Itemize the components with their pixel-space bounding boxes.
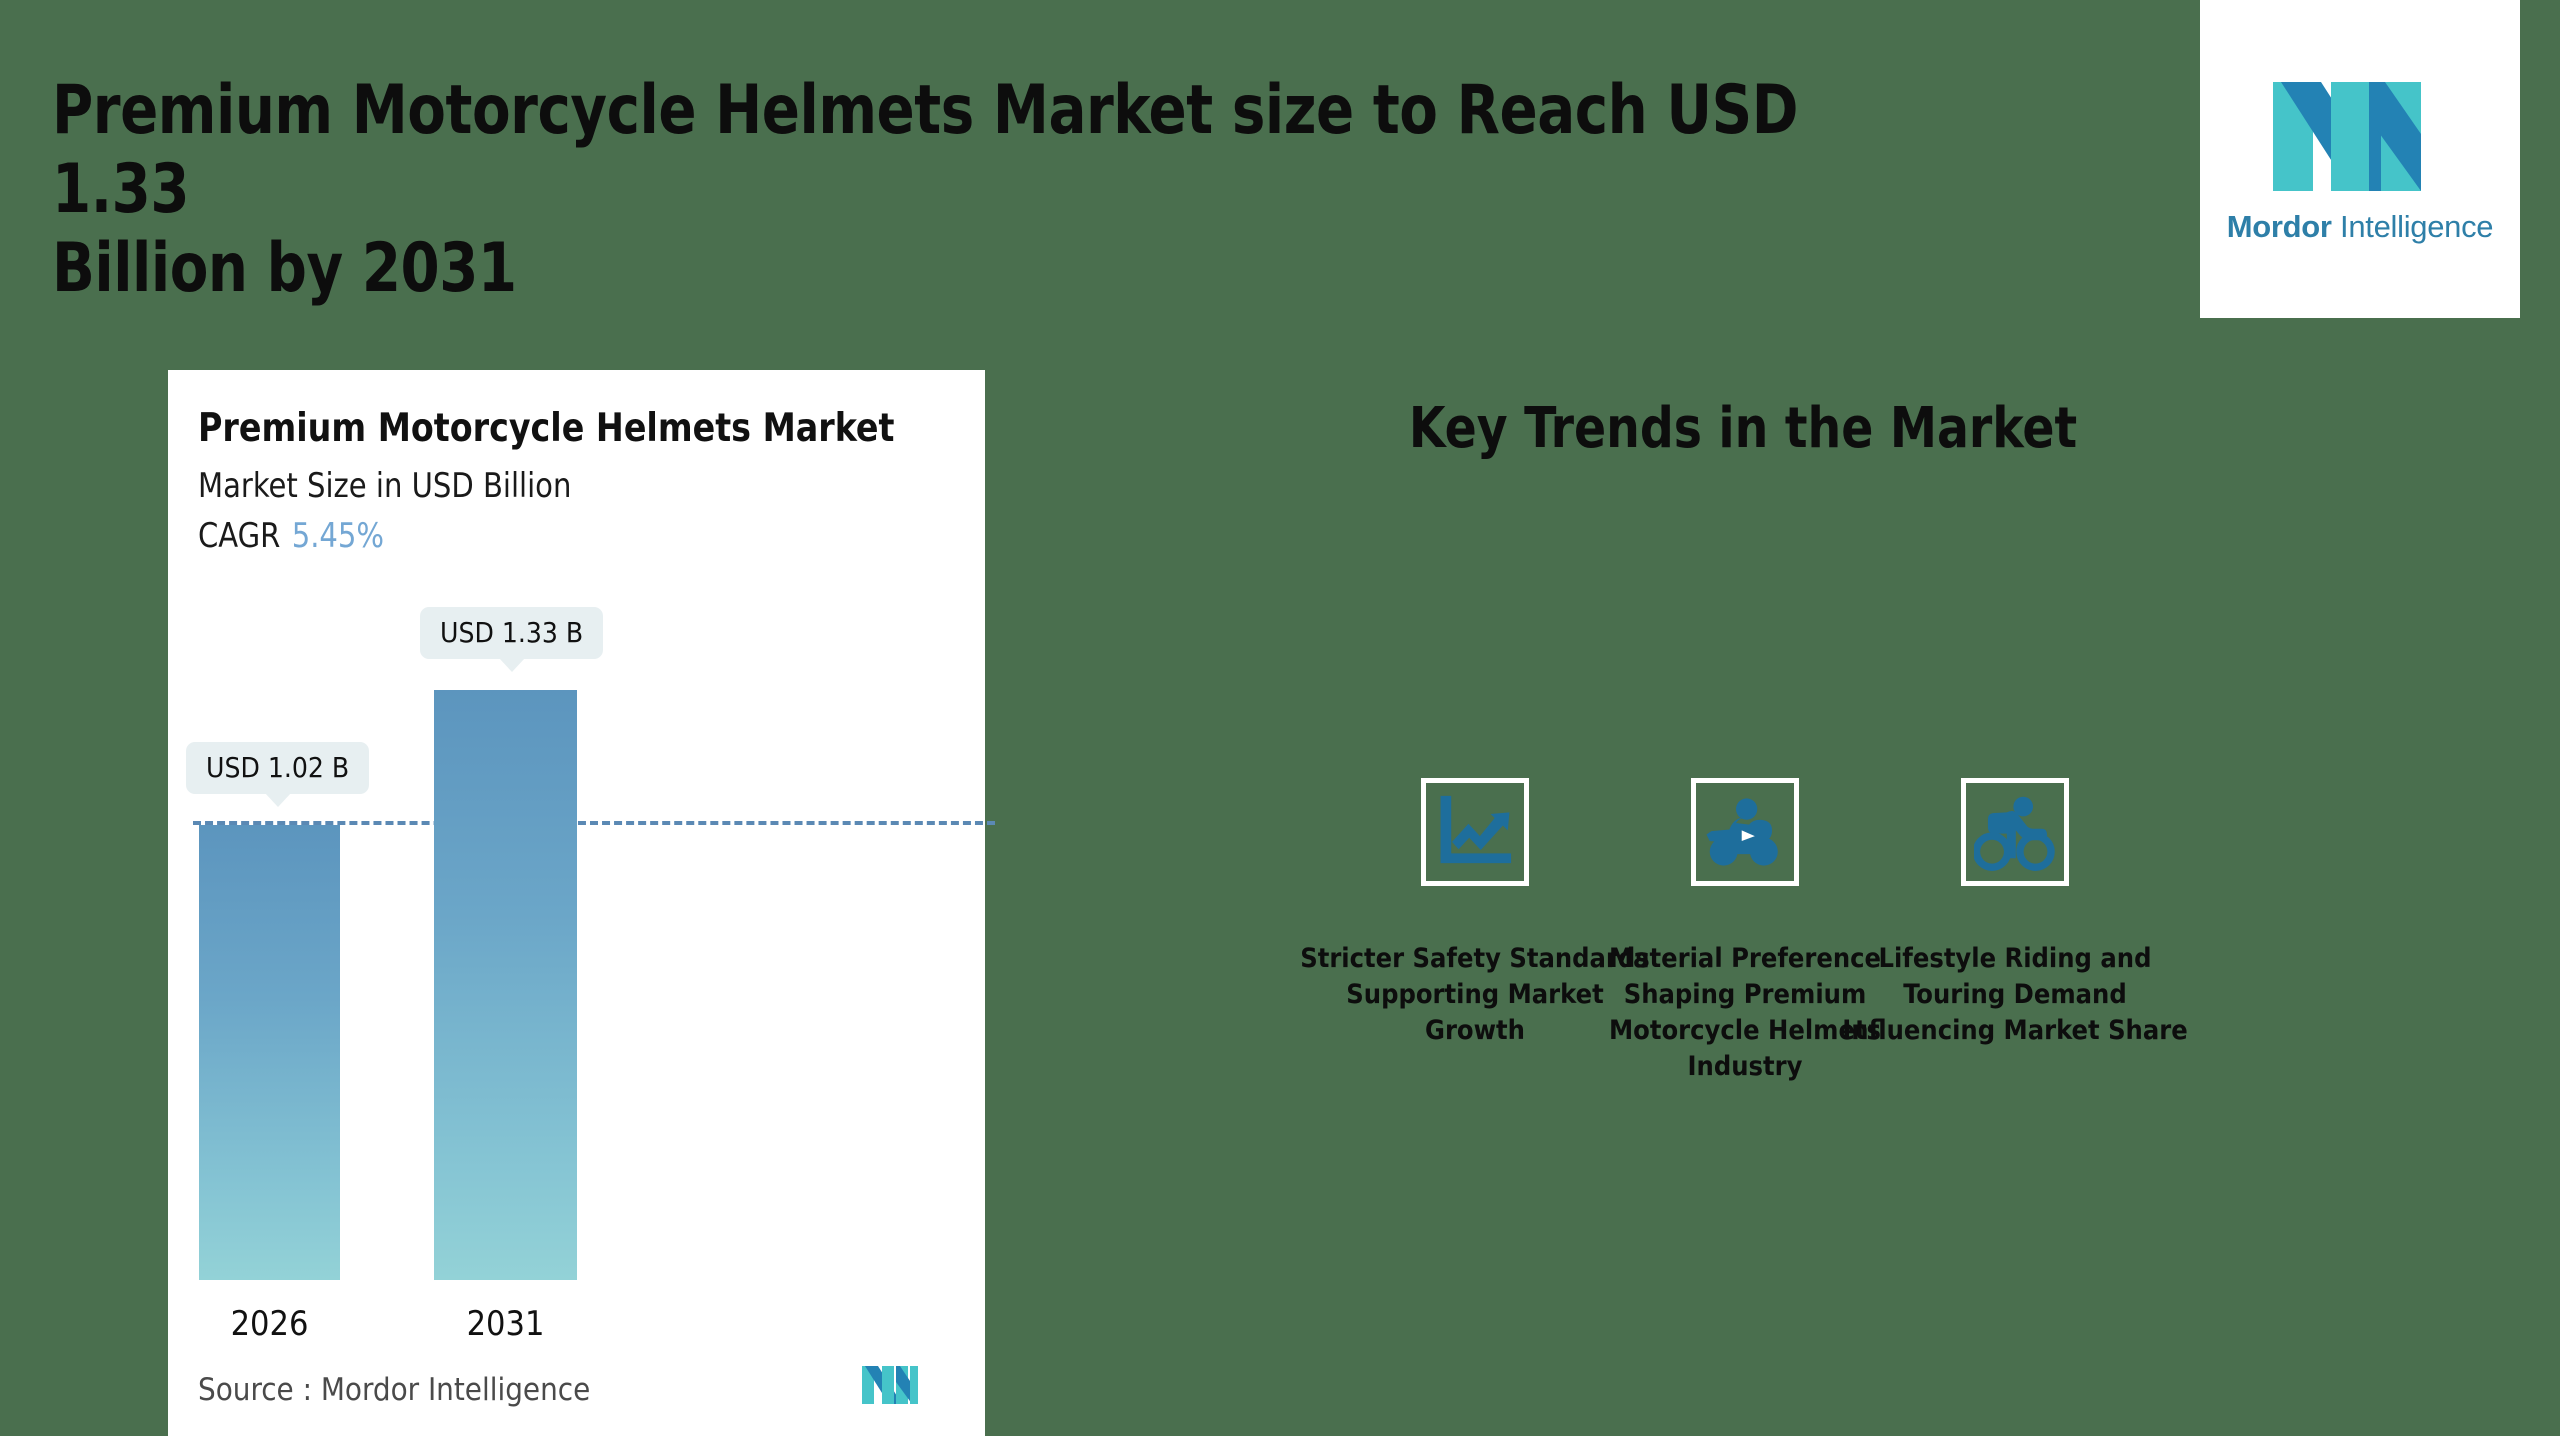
- trend-caption-2: Lifestyle Riding and Touring Demand Infl…: [1835, 941, 2195, 1049]
- chart-card: Premium Motorcycle Helmets Market Market…: [168, 370, 985, 1436]
- cyclist-icon: [1974, 791, 2056, 873]
- x-axis-label-2031: 2031: [434, 1304, 577, 1344]
- growth-chart-icon: [1434, 791, 1516, 873]
- mordor-m-logo-small-icon: [862, 1364, 920, 1406]
- bar-2026[interactable]: [199, 825, 340, 1280]
- page-title-line-1: Premium Motorcycle Helmets Market size t…: [52, 71, 1798, 229]
- brand-name-bold: Mordor: [2227, 209, 2332, 244]
- page-title: Premium Motorcycle Helmets Market size t…: [52, 72, 1892, 309]
- motorcycle-rider-icon: [1704, 791, 1786, 873]
- trend-icon-frame-0: [1421, 778, 1529, 886]
- source-row: Source : Mordor Intelligence: [198, 1372, 590, 1408]
- trend-item-2: Lifestyle Riding and Touring Demand Infl…: [1835, 778, 2195, 1049]
- trend-icon-frame-2: [1961, 778, 2069, 886]
- mordor-m-logo-icon: [2273, 74, 2448, 199]
- brand-name-light: Intelligence: [2332, 209, 2494, 244]
- trend-icon-frame-1: [1691, 778, 1799, 886]
- x-axis-label-2026: 2026: [199, 1304, 340, 1344]
- bar-chart-plot-area: USD 1.02 B USD 1.33 B 2026 2031 Source :…: [168, 370, 985, 1436]
- source-label: Source :: [198, 1372, 312, 1408]
- brand-logo-box: Mordor Intelligence: [2200, 0, 2520, 318]
- brand-wordmark: Mordor Intelligence: [2227, 209, 2494, 245]
- source-name: Mordor Intelligence: [321, 1372, 590, 1408]
- bar-2031[interactable]: [434, 690, 577, 1280]
- value-label-2026: USD 1.02 B: [186, 742, 369, 794]
- page-title-line-2: Billion by 2031: [52, 230, 1892, 309]
- trends-heading: Key Trends in the Market: [1358, 396, 2129, 461]
- value-label-2031: USD 1.33 B: [420, 607, 603, 659]
